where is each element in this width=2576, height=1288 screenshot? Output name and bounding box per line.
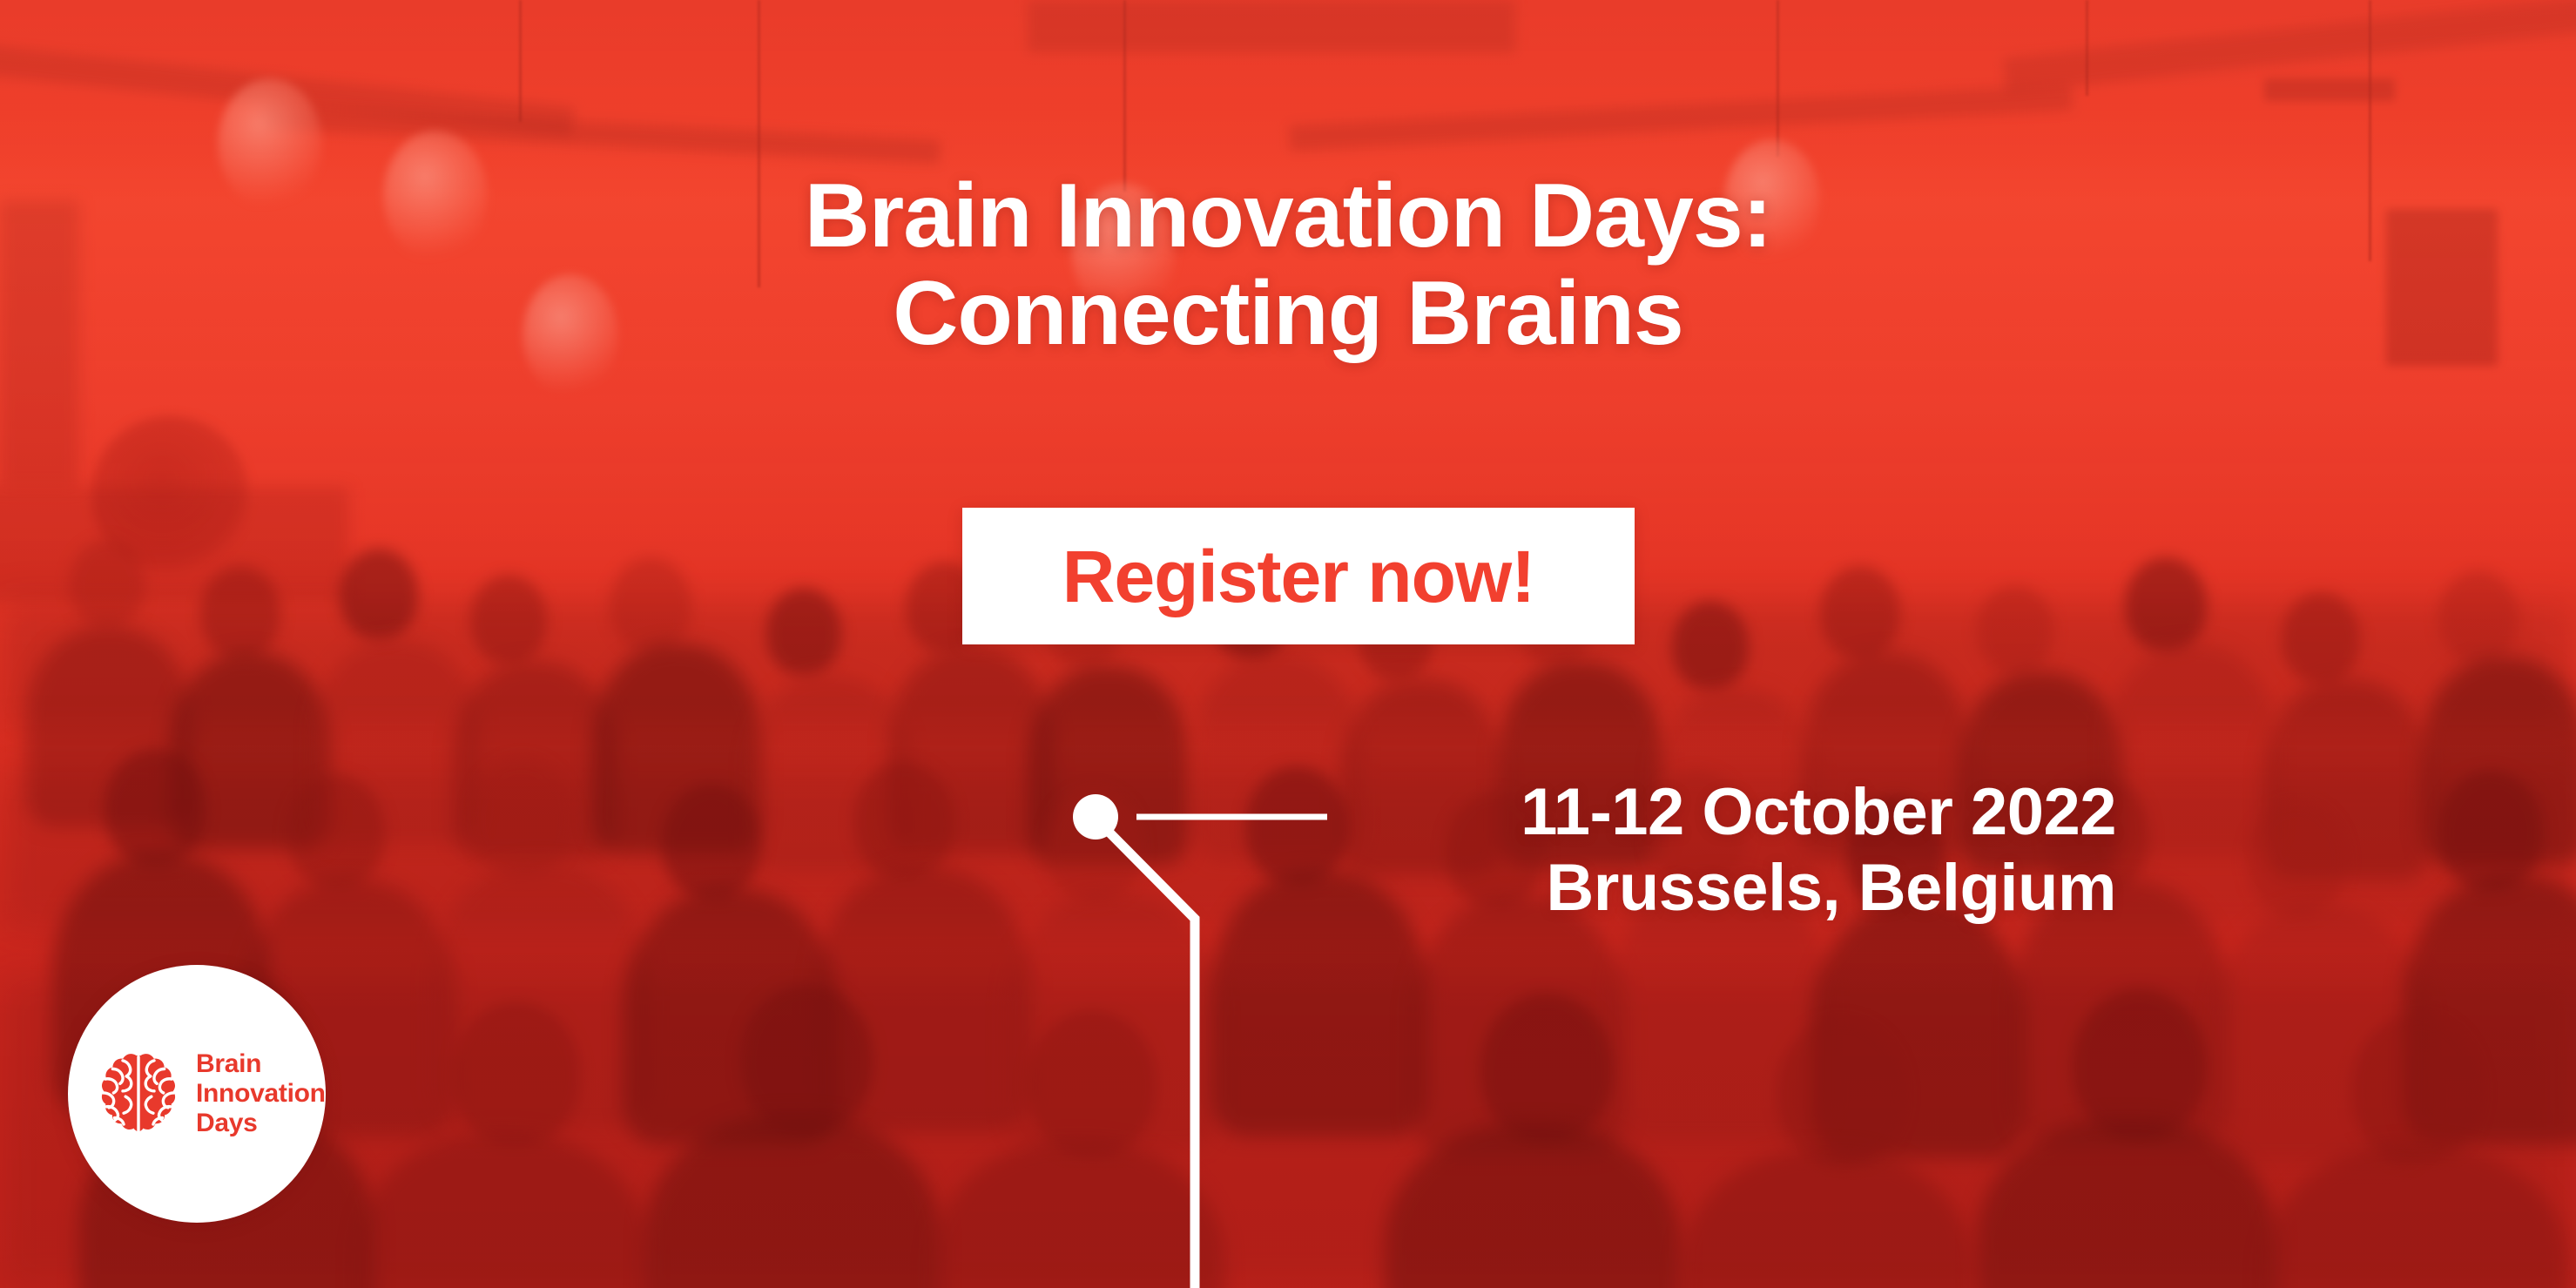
logo-badge[interactable]: Brain Innovation Days xyxy=(68,965,326,1223)
event-details: 11-12 October 2022 Brussels, Belgium xyxy=(1521,775,2116,926)
register-button-label: Register now! xyxy=(1062,540,1534,613)
register-now-button[interactable]: Register now! xyxy=(962,508,1635,644)
event-promo-banner: Brain Innovation Days: Connecting Brains… xyxy=(0,0,2576,1288)
brain-icon xyxy=(92,1048,185,1140)
logo-wordmark: Brain Innovation Days xyxy=(196,1049,326,1138)
event-dates: 11-12 October 2022 xyxy=(1521,775,2116,851)
event-location: Brussels, Belgium xyxy=(1521,851,2116,927)
page-title: Brain Innovation Days: Connecting Brains xyxy=(0,167,2576,363)
